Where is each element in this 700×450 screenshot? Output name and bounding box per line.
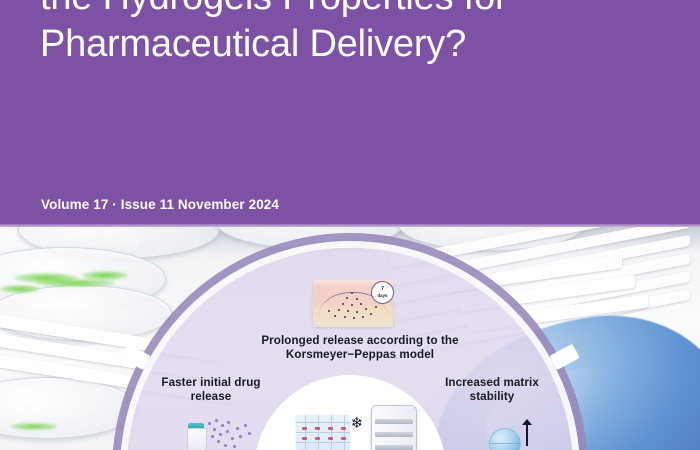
drug-particle <box>219 433 222 436</box>
vial-body <box>187 428 207 450</box>
drug-particle <box>217 440 220 443</box>
crosslink-node <box>341 437 346 440</box>
label-faster-initial-release: Faster initial drug release <box>150 376 272 404</box>
drug-particle <box>244 424 247 427</box>
drug-particle <box>227 421 230 424</box>
stability-arrow-icon <box>526 424 528 446</box>
drug-particle <box>239 435 242 438</box>
wheel-inner-hole <box>254 375 446 450</box>
crosslink-node <box>302 427 307 430</box>
vial-illustration <box>186 423 206 450</box>
duration-badge-unit: days <box>372 293 393 299</box>
dermis-layer <box>313 313 393 327</box>
freezer-shelf <box>375 419 413 424</box>
crosslink-node <box>315 437 320 440</box>
crosslink-node <box>341 427 346 430</box>
drug-particle <box>213 428 216 431</box>
snowflake-icon: ❄ <box>349 416 365 432</box>
released-particles-cloud <box>206 418 258 450</box>
drug-particle <box>211 435 214 438</box>
drug-particle <box>224 444 227 447</box>
volume-issue-line: Volume 17 · Issue 11 November 2024 <box>41 197 279 212</box>
freezer-shelf <box>375 432 413 437</box>
journal-cover: the Hydrogels Properties for Pharmaceuti… <box>0 0 700 450</box>
crosslink-node <box>315 427 320 430</box>
cover-title: the Hydrogels Properties for Pharmaceuti… <box>40 0 660 68</box>
drug-particle <box>208 422 211 425</box>
crosslink-node <box>328 427 333 430</box>
network-strand <box>305 415 306 450</box>
green-culture-streak <box>10 423 58 430</box>
polymer-network-illustration <box>296 415 350 450</box>
drug-particle <box>236 427 239 430</box>
drug-particle <box>231 437 234 440</box>
network-strand <box>318 415 319 450</box>
label-increased-matrix-stability: Increased matrix stability <box>430 376 554 404</box>
crosslink-node <box>328 437 333 440</box>
cover-header-band: the Hydrogels Properties for Pharmaceuti… <box>0 0 700 227</box>
cover-title-line-2: Pharmaceutical Delivery? <box>40 21 660 68</box>
green-culture-streak <box>36 279 116 287</box>
duration-badge: 7 days <box>371 281 394 304</box>
drug-particle <box>226 430 229 433</box>
drug-particle <box>215 419 218 422</box>
green-culture-streak <box>82 271 128 280</box>
green-culture-streak <box>0 285 40 293</box>
crosslink-node <box>302 437 307 440</box>
network-strand <box>344 415 345 450</box>
freezer-illustration <box>371 405 417 450</box>
freezer-shelf <box>375 445 413 450</box>
drug-particle <box>233 445 236 448</box>
drug-particle <box>248 432 251 435</box>
cover-title-line-1: the Hydrogels Properties for <box>40 0 660 21</box>
network-strand <box>331 415 332 450</box>
label-prolonged-release: Prolonged release according to the Korsm… <box>244 334 476 362</box>
drug-particle <box>221 424 224 427</box>
